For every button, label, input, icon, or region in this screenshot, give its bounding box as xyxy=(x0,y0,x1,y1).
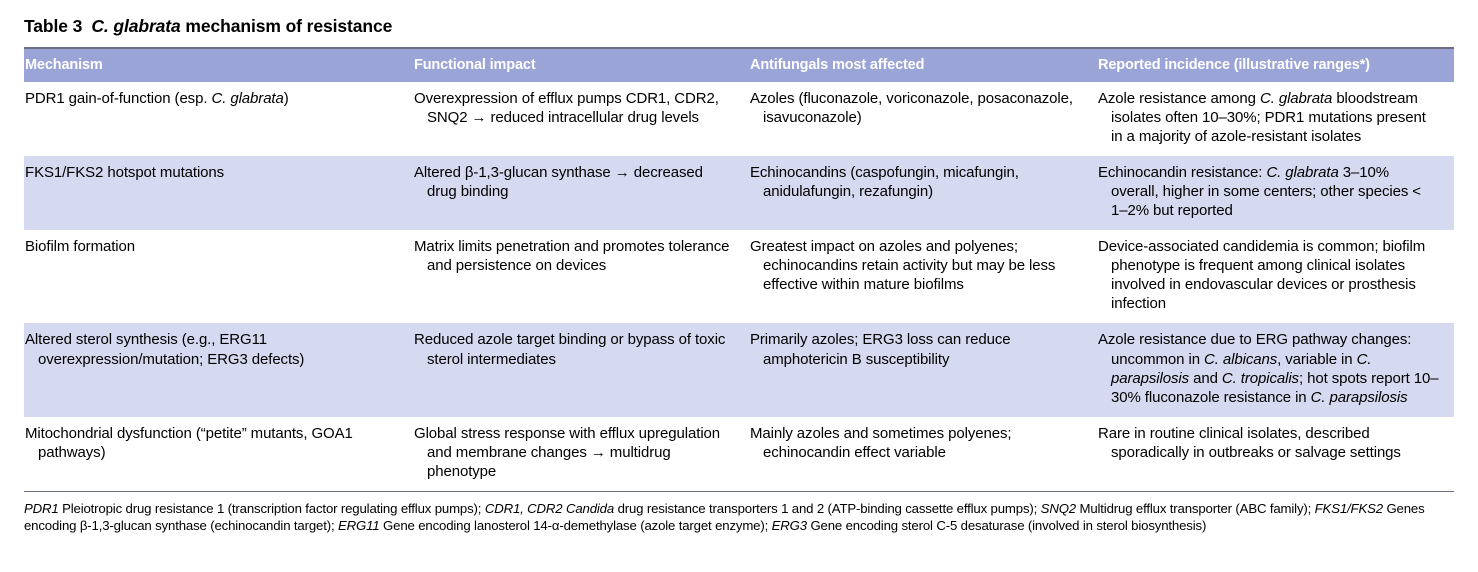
cell-text: Echinocandin resistance: xyxy=(1098,164,1266,181)
cell-italic: C. tropicalis xyxy=(1222,370,1299,387)
cell-antifungals: Primarily azoles; ERG3 loss can reduce a… xyxy=(750,323,1098,416)
cell-text: , variable in xyxy=(1277,351,1356,368)
cell-italic: C. parapsilosis xyxy=(1311,389,1408,406)
cell-text: and xyxy=(1189,370,1222,387)
footnote-text: Multidrug efflux transporter (ABC family… xyxy=(1076,501,1315,516)
table-caption-label: Table 3 xyxy=(24,16,82,36)
cell-italic: C. glabrata xyxy=(211,90,283,107)
cell-mechanism: FKS1/FKS2 hotspot mutations xyxy=(24,156,414,230)
cell-italic: C. glabrata xyxy=(1260,90,1332,107)
footnote-text: Gene encoding sterol C-5 desaturase (inv… xyxy=(807,518,1206,533)
table-footnote: PDR1 Pleiotropic drug resistance 1 (tran… xyxy=(24,491,1454,535)
footnote-text: drug resistance transporters 1 and 2 (AT… xyxy=(614,501,1041,516)
footnote-term-fks: FKS1/FKS2 xyxy=(1315,501,1383,516)
cell-antifungals: Azoles (fluconazole, voriconazole, posac… xyxy=(750,82,1098,156)
table-body: PDR1 gain-of-function (esp. C. glabrata)… xyxy=(24,82,1454,491)
cell-functional-impact: Matrix limits penetration and promotes t… xyxy=(414,230,750,323)
table-header: Mechanism Functional impact Antifungals … xyxy=(24,48,1454,82)
table-row: Biofilm formation Matrix limits penetrat… xyxy=(24,230,1454,323)
column-header-functional-impact: Functional impact xyxy=(414,48,750,82)
cell-mechanism: Biofilm formation xyxy=(24,230,414,323)
table-caption-species: C. glabrata xyxy=(91,16,180,36)
table-row: Mitochondrial dysfunction (“petite” muta… xyxy=(24,417,1454,491)
cell-text: PDR1 gain-of-function (esp. xyxy=(25,90,211,107)
cell-text-tail: ) xyxy=(284,90,289,107)
table-row: FKS1/FKS2 hotspot mutations Altered β-1,… xyxy=(24,156,1454,230)
cell-antifungals: Greatest impact on azoles and polyenes; … xyxy=(750,230,1098,323)
cell-text: Azole resistance among xyxy=(1098,90,1260,107)
cell-functional-impact: Overexpression of efflux pumps CDR1, CDR… xyxy=(414,82,750,156)
cell-antifungals: Mainly azoles and sometimes polyenes; ec… xyxy=(750,417,1098,491)
cell-incidence: Rare in routine clinical isolates, descr… xyxy=(1098,417,1454,491)
cell-antifungals: Echinocandins (caspofungin, micafungin, … xyxy=(750,156,1098,230)
cell-italic: C. glabrata xyxy=(1266,164,1338,181)
cell-functional-impact: Global stress response with efflux upreg… xyxy=(414,417,750,491)
footnote-text: Pleiotropic drug resistance 1 (transcrip… xyxy=(59,501,485,516)
footnote-term-cdr: CDR1, CDR2 Candida xyxy=(485,501,614,516)
cell-functional-impact: Reduced azole target binding or bypass o… xyxy=(414,323,750,416)
footnote-term-pdr1: PDR1 xyxy=(24,501,59,516)
cell-incidence: Echinocandin resistance: C. glabrata 3–1… xyxy=(1098,156,1454,230)
table-page: Table 3C. glabrata mechanism of resistan… xyxy=(0,0,1478,572)
footnote-term-erg11: ERG11 xyxy=(338,518,380,533)
table-caption-text: mechanism of resistance xyxy=(181,16,393,36)
column-header-mechanism: Mechanism xyxy=(24,48,414,82)
table-header-row: Mechanism Functional impact Antifungals … xyxy=(24,48,1454,82)
cell-mechanism: Altered sterol synthesis (e.g., ERG11 ov… xyxy=(24,323,414,416)
column-header-incidence: Reported incidence (illustrative ranges*… xyxy=(1098,48,1454,82)
footnote-term-erg3: ERG3 xyxy=(772,518,807,533)
cell-italic: C. albicans xyxy=(1204,351,1277,368)
cell-incidence: Azole resistance among C. glabrata blood… xyxy=(1098,82,1454,156)
cell-incidence: Device-associated candidemia is common; … xyxy=(1098,230,1454,323)
cell-mechanism: PDR1 gain-of-function (esp. C. glabrata) xyxy=(24,82,414,156)
cell-mechanism: Mitochondrial dysfunction (“petite” muta… xyxy=(24,417,414,491)
footnote-term-snq2: SNQ2 xyxy=(1041,501,1076,516)
column-header-antifungals: Antifungals most affected xyxy=(750,48,1098,82)
footnote-text: Gene encoding lanosterol 14-α-demethylas… xyxy=(380,518,772,533)
table-row: PDR1 gain-of-function (esp. C. glabrata)… xyxy=(24,82,1454,156)
table-caption: Table 3C. glabrata mechanism of resistan… xyxy=(24,0,1454,47)
cell-functional-impact: Altered β-1,3-glucan synthase → decrease… xyxy=(414,156,750,230)
resistance-table: Mechanism Functional impact Antifungals … xyxy=(24,47,1454,491)
cell-incidence: Azole resistance due to ERG pathway chan… xyxy=(1098,323,1454,416)
table-row: Altered sterol synthesis (e.g., ERG11 ov… xyxy=(24,323,1454,416)
